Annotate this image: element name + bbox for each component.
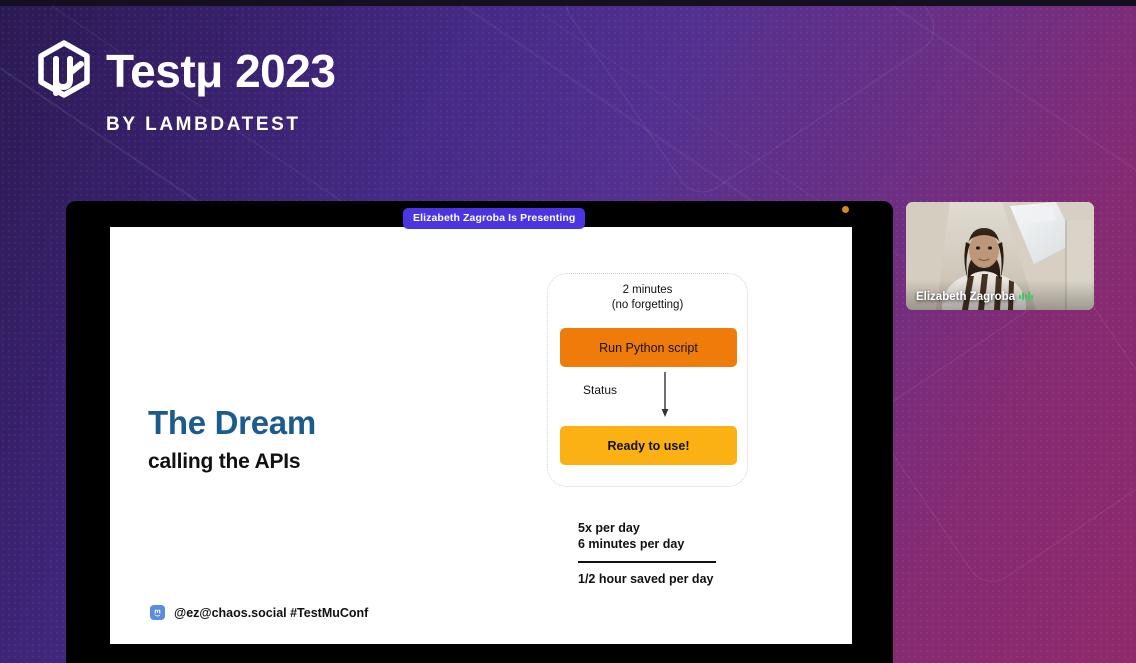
diagram-caption-line-1: 2 minutes <box>548 283 747 298</box>
brand-header: Testμ 2023 BY LAMBDATEST <box>36 40 335 136</box>
presentation-stage: Testμ 2023 BY LAMBDATEST Elizabeth Zagro… <box>0 0 1136 663</box>
participant-name-row: Elizabeth Zagroba <box>916 291 1033 303</box>
participant-video-tile[interactable]: Elizabeth Zagroba <box>906 202 1094 310</box>
slide-footer: @ez@chaos.social #TestMuConf <box>150 605 368 620</box>
arrow-down-icon <box>659 372 671 418</box>
slide-title: The Dream <box>148 406 316 441</box>
math-divider <box>578 561 716 563</box>
recording-dot-icon <box>842 206 849 213</box>
presenting-banner: Elizabeth Zagroba Is Presenting <box>403 208 585 229</box>
background-outline-shape <box>868 278 1136 592</box>
diagram-caption-line-2: (no forgetting) <box>548 298 747 313</box>
math-block: 5x per day 6 minutes per day 1/2 hour sa… <box>578 521 728 588</box>
diagram-card: 2 minutes (no forgetting) Run Python scr… <box>547 273 748 487</box>
mastodon-icon <box>150 605 165 620</box>
diagram-caption: 2 minutes (no forgetting) <box>548 283 747 312</box>
brand-row: Testμ 2023 <box>36 40 335 102</box>
math-line-1: 5x per day <box>578 521 728 537</box>
flow-step-run-script: Run Python script <box>560 328 737 367</box>
participant-name: Elizabeth Zagroba <box>916 291 1015 303</box>
slide-canvas: The Dream calling the APIs 2 minutes (no… <box>110 227 852 644</box>
testmu-hexagon-mu-logo-icon <box>36 40 92 102</box>
math-result: 1/2 hour saved per day <box>578 572 728 588</box>
top-edge-strip <box>0 0 1136 6</box>
flow-step-ready-to-use: Ready to use! <box>560 426 737 465</box>
flow-connector-label: Status <box>583 383 617 397</box>
math-line-2: 6 minutes per day <box>578 537 728 553</box>
background-outline-shape <box>556 0 945 203</box>
mic-level-icon <box>1019 291 1033 302</box>
slide-subtitle: calling the APIs <box>148 450 316 474</box>
slide-heading-block: The Dream calling the APIs <box>148 406 316 474</box>
brand-title: Testμ 2023 <box>106 48 335 94</box>
brand-subtitle: BY LAMBDATEST <box>106 114 301 136</box>
footer-social-handle: @ez@chaos.social #TestMuConf <box>174 606 368 620</box>
